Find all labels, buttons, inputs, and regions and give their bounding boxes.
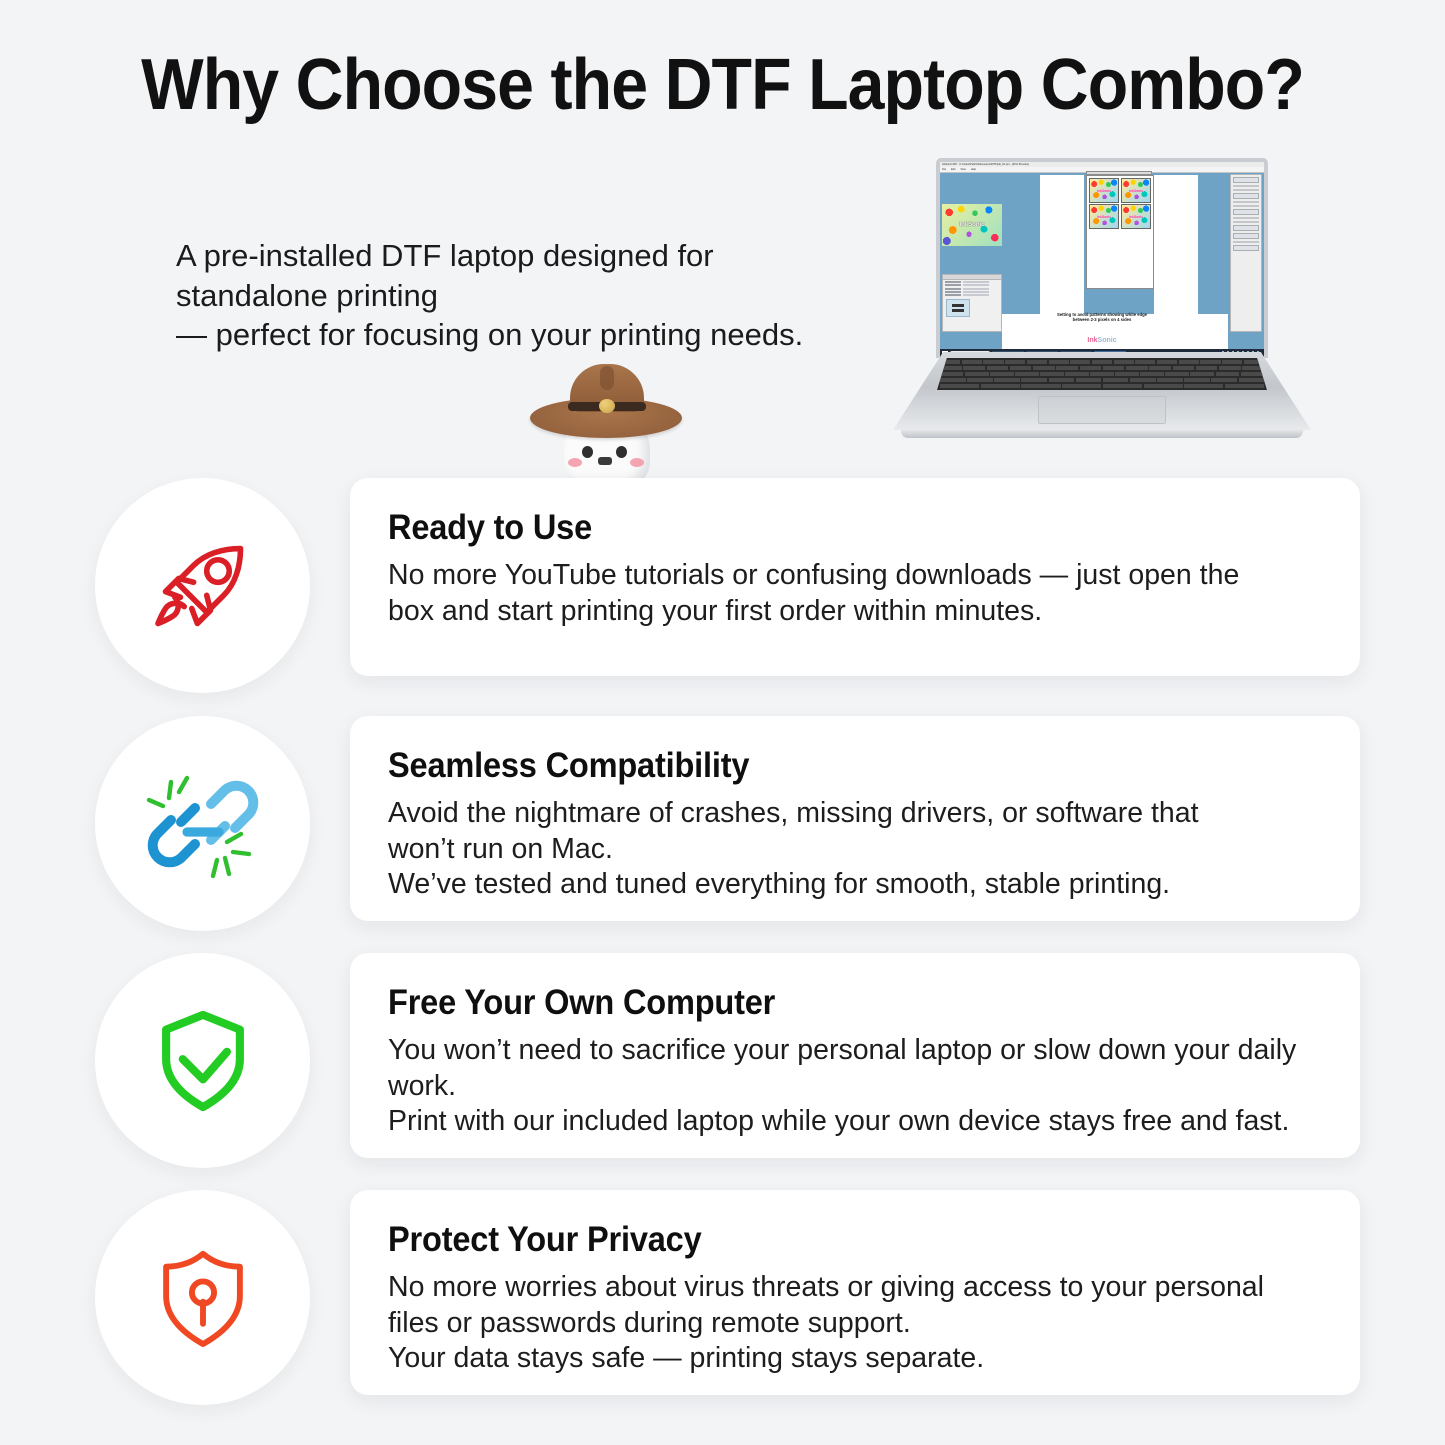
feature-title: Seamless Compatibility	[388, 746, 1258, 786]
icon-badge-ready-to-use	[95, 478, 310, 693]
intro-line-3: — perfect for focusing on your printing …	[176, 315, 876, 355]
menu-item-file[interactable]: File	[942, 168, 946, 171]
canvas-tile[interactable]: InkSonic	[1089, 178, 1119, 203]
software-brand-logo: InkSonic	[1087, 337, 1116, 344]
bear-nose	[598, 457, 612, 465]
properties-panel-header	[943, 275, 1001, 280]
feature-body: You won’t need to sacrifice your persona…	[388, 1033, 1324, 1140]
feature-body: No more YouTube tutorials or confusing d…	[388, 558, 1324, 629]
rip-software-window: InkSonic RIP - C:\Users\Public\Documents…	[940, 162, 1264, 358]
panel-row	[1233, 241, 1259, 243]
screen-caption-line-2: between 2-3 pixels on 4 sides	[1057, 317, 1147, 322]
panel-row	[1233, 189, 1259, 191]
feature-body: Avoid the nightmare of crashes, missing …	[388, 796, 1324, 903]
icon-badge-free-your-own-computer	[95, 953, 310, 1168]
canvas-tile[interactable]: InkSonic	[1089, 204, 1119, 229]
intro-line-1: A pre-installed DTF laptop designed for	[176, 236, 876, 276]
menu-item-edit[interactable]: Edit	[951, 168, 955, 171]
feature-body: No more worries about virus threats or g…	[388, 1270, 1324, 1377]
software-left-panel: InkSonic	[942, 174, 1002, 332]
laptop-screen: InkSonic RIP - C:\Users\Public\Documents…	[940, 162, 1264, 358]
feature-body-line: Avoid the nightmare of crashes, missing …	[388, 796, 1324, 832]
icon-badge-seamless-compatibility	[95, 716, 310, 931]
feature-body-line: won’t run on Mac.	[388, 832, 1324, 868]
feature-title: Protect Your Privacy	[388, 1220, 1258, 1260]
shield-lock-icon	[144, 1239, 262, 1357]
feature-card-ready-to-use: Ready to Use No more YouTube tutorials o…	[350, 478, 1360, 676]
menu-item-view[interactable]: View	[960, 168, 966, 171]
panel-button[interactable]	[1233, 245, 1259, 251]
software-right-panel	[1230, 174, 1262, 332]
feature-title: Ready to Use	[388, 508, 1258, 548]
panel-row	[1233, 185, 1259, 187]
intro-paragraph: A pre-installed DTF laptop designed for …	[176, 236, 876, 355]
cowboy-bear-mascot	[516, 358, 696, 488]
screen-caption: Setting to avoid patterns showing white …	[1057, 312, 1147, 323]
panel-button[interactable]	[1233, 177, 1259, 183]
laptop-front-edge	[901, 429, 1303, 438]
cowboy-hat-buckle	[599, 399, 615, 413]
feature-body-line: No more worries about virus threats or g…	[388, 1270, 1324, 1306]
software-titlebar-text: InkSonic RIP - C:\Users\Public\Documents…	[940, 162, 1264, 166]
bear-eye-right	[616, 446, 627, 458]
feature-body-line: work.	[388, 1069, 1324, 1105]
panel-button[interactable]	[1233, 225, 1259, 231]
panel-button[interactable]	[1233, 233, 1259, 239]
panel-row	[1233, 205, 1259, 207]
laptop-lid: InkSonic RIP - C:\Users\Public\Documents…	[936, 158, 1268, 358]
laptop-keyboard	[937, 358, 1267, 390]
panel-row	[1233, 221, 1259, 223]
canvas-backdrop-left	[1040, 175, 1084, 323]
intro-line-2: standalone printing	[176, 276, 876, 316]
laptop-product-image: InkSonic RIP - C:\Users\Public\Documents…	[893, 158, 1311, 448]
cowboy-hat-crease	[600, 366, 614, 390]
panel-button[interactable]	[1233, 209, 1259, 215]
properties-panel	[942, 274, 1002, 332]
canvas-tile[interactable]: InkSonic	[1121, 204, 1151, 229]
bear-cheek-right	[630, 458, 644, 467]
page-title: Why Choose the DTF Laptop Combo?	[58, 44, 1387, 126]
preview-thumbnail[interactable]	[946, 299, 970, 317]
shield-check-icon	[144, 1002, 262, 1120]
canvas-tile[interactable]: InkSonic	[1121, 178, 1151, 203]
panel-row	[1233, 217, 1259, 219]
property-row	[943, 281, 1001, 283]
laptop-trackpad	[1038, 396, 1166, 424]
chain-link-icon	[139, 760, 267, 888]
feature-card-free-your-own-computer: Free Your Own Computer You won’t need to…	[350, 953, 1360, 1158]
feature-body-line: No more YouTube tutorials or confusing d…	[388, 558, 1324, 594]
feature-body-line: You won’t need to sacrifice your persona…	[388, 1033, 1324, 1069]
feature-title: Free Your Own Computer	[388, 983, 1258, 1023]
image-thumbnail[interactable]: InkSonic	[942, 204, 1002, 246]
canvas-backdrop-right	[1154, 175, 1198, 323]
bear-eye-left	[582, 446, 593, 458]
laptop-base	[893, 352, 1311, 430]
rocket-icon	[143, 526, 263, 646]
property-row	[943, 288, 1001, 290]
feature-body-line: We’ve tested and tuned everything for sm…	[388, 867, 1324, 903]
feature-body-line: files or passwords during remote support…	[388, 1306, 1324, 1342]
panel-row	[1233, 201, 1259, 203]
property-row	[943, 294, 1001, 296]
menu-item-help[interactable]: Help	[971, 168, 976, 171]
panel-button[interactable]	[1233, 193, 1259, 199]
bear-cheek-left	[568, 458, 582, 467]
property-row	[943, 284, 1001, 286]
feature-body-line: Your data stays safe — printing stays se…	[388, 1341, 1324, 1377]
thumbnail-logo-label: InkSonic	[959, 222, 984, 228]
feature-card-protect-your-privacy: Protect Your Privacy No more worries abo…	[350, 1190, 1360, 1395]
feature-card-seamless-compatibility: Seamless Compatibility Avoid the nightma…	[350, 716, 1360, 921]
icon-badge-protect-your-privacy	[95, 1190, 310, 1405]
property-row	[943, 291, 1001, 293]
feature-body-line: Print with our included laptop while you…	[388, 1104, 1324, 1140]
feature-body-line: box and start printing your first order …	[388, 594, 1324, 630]
